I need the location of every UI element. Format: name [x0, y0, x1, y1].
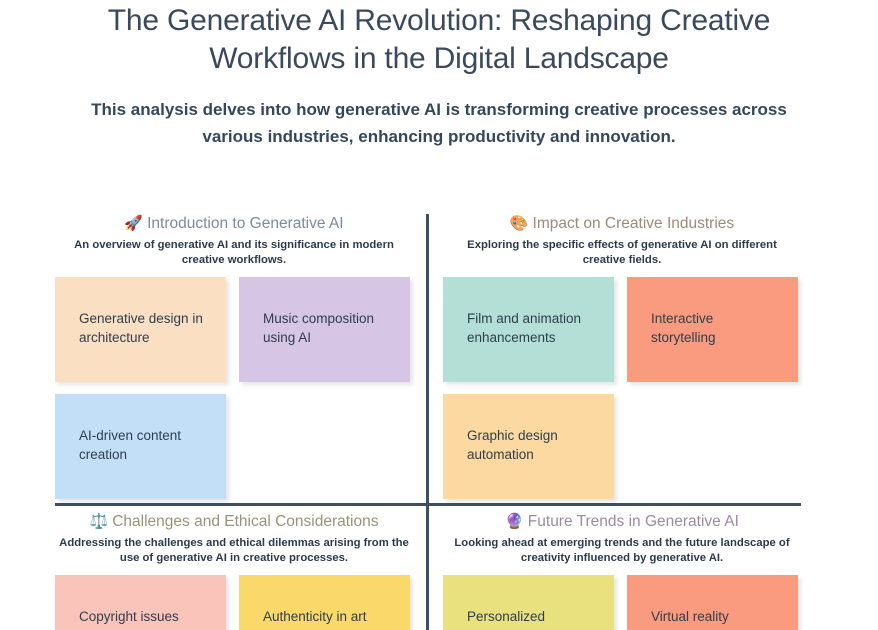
card-label: Virtual reality — [651, 607, 777, 626]
quadrant-description: Addressing the challenges and ethical di… — [55, 536, 413, 566]
page-root: The Generative AI Revolution: Reshaping … — [0, 0, 878, 630]
quadrant-title-text: Introduction to Generative AI — [147, 215, 343, 232]
quadrant-description: Exploring the specific effects of genera… — [443, 238, 801, 268]
card-label: Film and animation enhancements — [467, 309, 593, 347]
quadrant-challenges: ⚖️Challenges and Ethical Considerations … — [55, 510, 413, 630]
palette-icon: 🎨 — [510, 214, 529, 232]
card-list: Generative design in architecture Music … — [55, 277, 413, 499]
rocket-icon: 🚀 — [124, 214, 143, 232]
card-label: Copyright issues — [79, 607, 205, 626]
topic-card[interactable]: Interactive storytelling — [627, 277, 798, 382]
page-subtitle: This analysis delves into how generative… — [67, 96, 812, 150]
topic-card[interactable]: Authenticity in art — [239, 575, 410, 630]
quadrant-future: 🔮Future Trends in Generative AI Looking … — [443, 510, 801, 630]
quadrant-introduction: 🚀Introduction to Generative AI An overvi… — [55, 212, 413, 499]
quadrant-description: An overview of generative AI and its sig… — [55, 238, 413, 268]
quadrant-title-text: Impact on Creative Industries — [533, 215, 735, 232]
vertical-divider — [426, 214, 429, 630]
topic-card[interactable]: Graphic design automation — [443, 394, 614, 499]
card-label: Authenticity in art — [263, 607, 389, 626]
card-list: Copyright issues Authenticity in art — [55, 575, 413, 630]
card-label: Graphic design automation — [467, 426, 593, 464]
page-header: The Generative AI Revolution: Reshaping … — [0, 0, 878, 150]
topic-card[interactable]: Film and animation enhancements — [443, 277, 614, 382]
card-label: AI-driven content creation — [79, 426, 205, 464]
card-list: Personalized Virtual reality — [443, 575, 801, 630]
balance-scale-icon: ⚖️ — [90, 512, 109, 530]
card-label: Personalized — [467, 607, 593, 626]
quadrant-matrix: 🚀Introduction to Generative AI An overvi… — [55, 212, 801, 630]
quadrant-title: 🔮Future Trends in Generative AI — [443, 510, 801, 533]
topic-card[interactable]: Copyright issues — [55, 575, 226, 630]
quadrant-impact: 🎨Impact on Creative Industries Exploring… — [443, 212, 801, 499]
crystal-ball-icon: 🔮 — [505, 512, 524, 530]
topic-card[interactable]: Music composition using AI — [239, 277, 410, 382]
card-list: Film and animation enhancements Interact… — [443, 277, 801, 499]
topic-card[interactable]: Generative design in architecture — [55, 277, 226, 382]
topic-card[interactable]: Virtual reality — [627, 575, 798, 630]
quadrant-title: 🚀Introduction to Generative AI — [55, 212, 413, 235]
page-title: The Generative AI Revolution: Reshaping … — [44, 2, 834, 78]
card-label: Music composition using AI — [263, 309, 389, 347]
quadrant-title-text: Challenges and Ethical Considerations — [112, 513, 378, 530]
topic-card[interactable]: Personalized — [443, 575, 614, 630]
quadrant-title: ⚖️Challenges and Ethical Considerations — [55, 510, 413, 533]
quadrant-title-text: Future Trends in Generative AI — [528, 513, 739, 530]
card-label: Interactive storytelling — [651, 309, 777, 347]
card-label: Generative design in architecture — [79, 309, 205, 347]
topic-card[interactable]: AI-driven content creation — [55, 394, 226, 499]
quadrant-description: Looking ahead at emerging trends and the… — [443, 536, 801, 566]
quadrant-title: 🎨Impact on Creative Industries — [443, 212, 801, 235]
horizontal-divider — [55, 503, 801, 506]
